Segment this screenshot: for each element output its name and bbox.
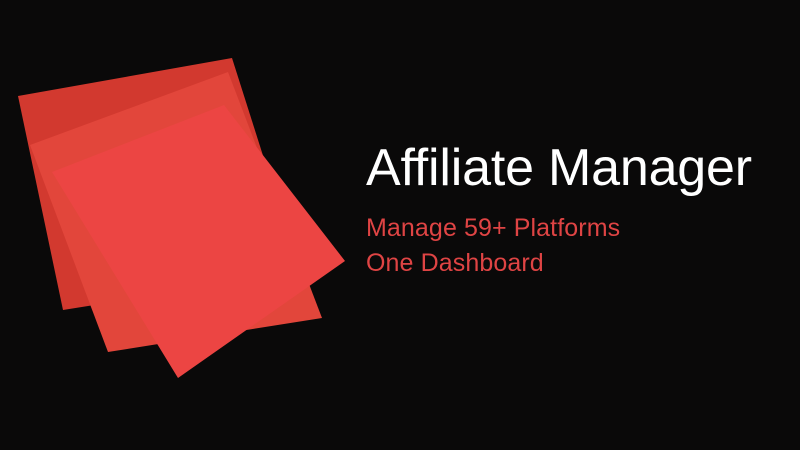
page-title: Affiliate Manager bbox=[366, 138, 786, 198]
tagline-platforms: Manage 59+ Platforms bbox=[366, 211, 786, 245]
stacked-cards-illustration bbox=[0, 0, 400, 450]
slide-canvas: Affiliate Manager Manage 59+ Platforms O… bbox=[0, 0, 800, 450]
hero-text-block: Affiliate Manager Manage 59+ Platforms O… bbox=[366, 138, 786, 280]
tagline-dashboard: One Dashboard bbox=[366, 246, 786, 280]
